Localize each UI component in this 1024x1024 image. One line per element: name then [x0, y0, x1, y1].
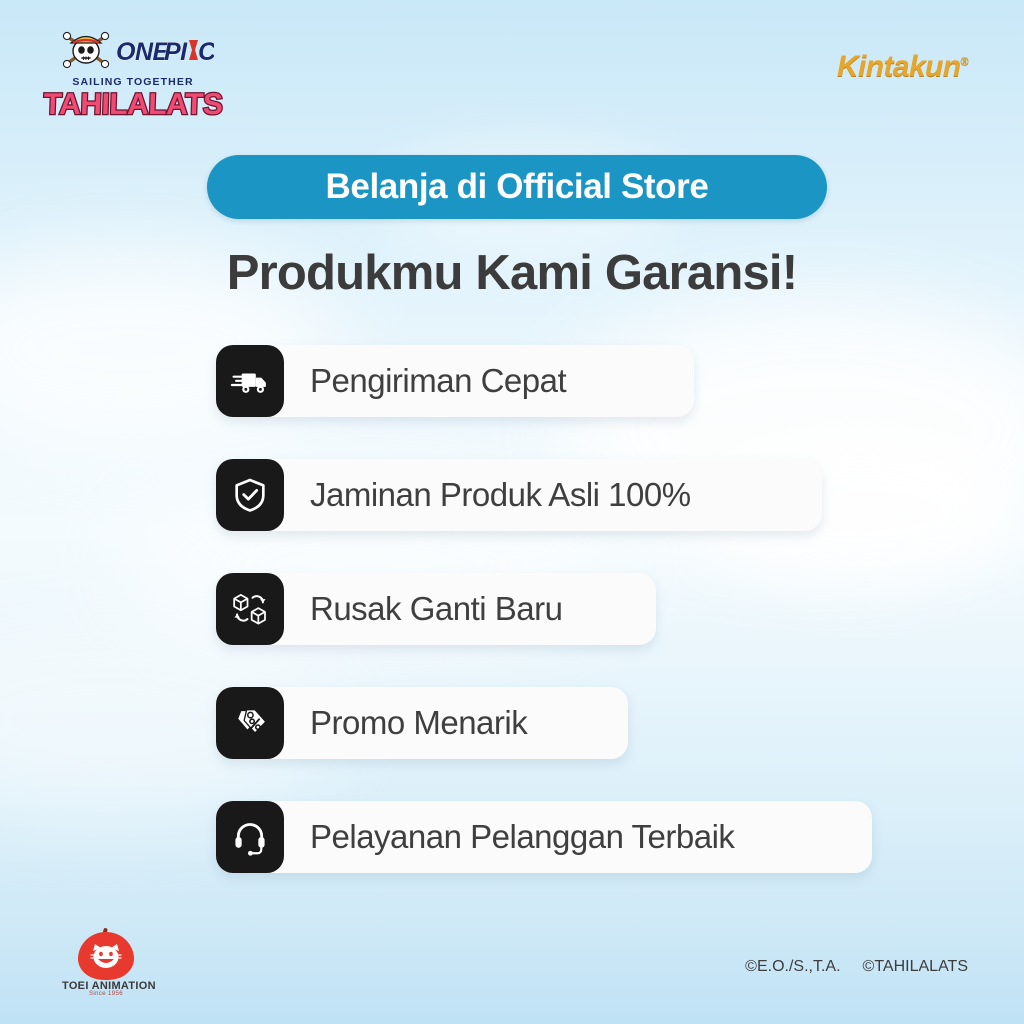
one-piece-tagline: SAILING TOGETHER [72, 76, 193, 88]
one-piece-logo: ONE PI C SAILING TOGETHER TAHILALATS [52, 26, 214, 124]
feature-icon-tile [216, 801, 284, 873]
feature-icon-tile [216, 573, 284, 645]
toei-animation-logo: TOEI ANIMATION Since 1956 [62, 932, 150, 998]
feature-icon-tile [216, 345, 284, 417]
list-item: Pelayanan Pelanggan Terbaik [216, 801, 872, 873]
discount-tag-icon [230, 703, 270, 743]
official-store-banner: Belanja di Official Store [207, 155, 827, 219]
feature-label: Pengiriman Cepat [284, 362, 596, 400]
feature-icon-tile [216, 687, 284, 759]
fast-delivery-truck-icon [230, 361, 270, 401]
copyright-primary: ©E.O./S.,T.A. [745, 958, 840, 975]
copyright-notice: ©E.O./S.,T.A.©TAHILALATS [745, 958, 968, 976]
toei-cat-face-icon [90, 942, 122, 970]
shield-check-icon [230, 475, 270, 515]
official-store-banner-label: Belanja di Official Store [326, 167, 709, 207]
feature-label: Rusak Ganti Baru [284, 590, 592, 628]
kintakun-brand-logo: Kintakun® [837, 50, 968, 84]
svg-text:PI: PI [164, 38, 188, 66]
box-exchange-icon [230, 589, 270, 629]
page-title: Produkmu Kami Garansi! [0, 245, 1024, 301]
svg-text:ONE: ONE [116, 38, 171, 66]
feature-label: Pelayanan Pelanggan Terbaik [284, 818, 764, 856]
headset-support-icon [230, 817, 270, 857]
list-item: Jaminan Produk Asli 100% [216, 459, 822, 531]
feature-icon-tile [216, 459, 284, 531]
copyright-secondary: ©TAHILALATS [863, 958, 968, 975]
registered-trademark-icon: ® [960, 56, 968, 68]
kintakun-name: Kintakun [837, 50, 961, 83]
guarantee-feature-list: Pengiriman Cepat Jaminan Produk Asli 100… [216, 345, 872, 915]
list-item: Rusak Ganti Baru [216, 573, 656, 645]
tahilalats-wordmark: TAHILALATS [43, 88, 223, 122]
svg-text:C: C [198, 38, 214, 66]
feature-label: Promo Menarik [284, 704, 557, 742]
one-piece-skull-icon: ONE PI C [52, 26, 214, 72]
list-item: Promo Menarik [216, 687, 628, 759]
list-item: Pengiriman Cepat [216, 345, 694, 417]
feature-label: Jaminan Produk Asli 100% [284, 476, 721, 514]
toei-animation-since: Since 1956 [62, 991, 150, 997]
